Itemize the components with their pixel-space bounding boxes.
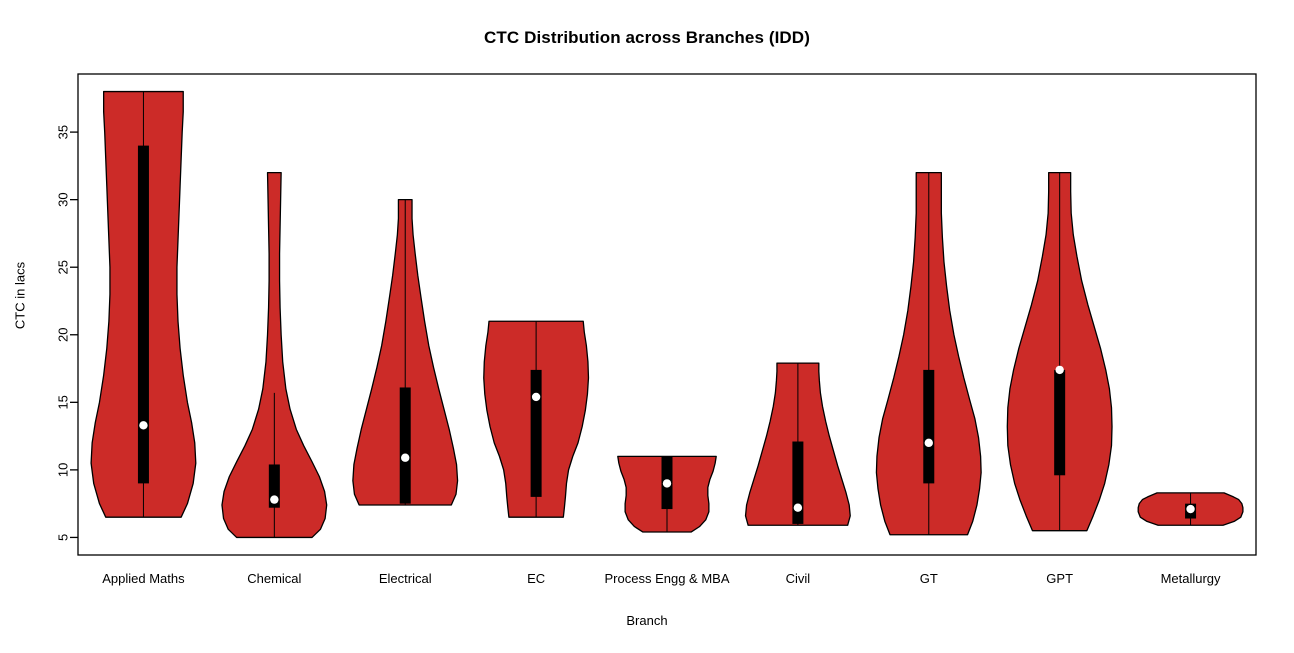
y-tick-label: 5 xyxy=(56,534,71,541)
y-tick-label: 10 xyxy=(56,463,71,477)
violin-applied-maths[interactable] xyxy=(91,92,196,518)
y-tick-label: 15 xyxy=(56,395,71,409)
x-tick-label: Chemical xyxy=(247,571,301,586)
violin-ec[interactable] xyxy=(484,321,589,517)
median-marker xyxy=(925,439,933,447)
y-tick-label: 35 xyxy=(56,125,71,139)
violin-gpt[interactable] xyxy=(1007,173,1112,531)
violins-group xyxy=(91,92,1243,538)
x-tick-label: Process Engg & MBA xyxy=(605,571,730,586)
plot-area: 5101520253035Applied MathsChemicalElectr… xyxy=(0,0,1294,653)
violin-process-engg-mba[interactable] xyxy=(618,456,716,532)
x-tick-label: GPT xyxy=(1046,571,1073,586)
y-tick-label: 20 xyxy=(56,328,71,342)
median-marker xyxy=(270,495,278,503)
median-marker xyxy=(139,421,147,429)
violin-civil[interactable] xyxy=(746,363,851,525)
iqr-box xyxy=(531,370,542,497)
iqr-box xyxy=(1054,370,1065,475)
x-tick-label: EC xyxy=(527,571,545,586)
violin-metallurgy[interactable] xyxy=(1138,493,1243,525)
x-tick-label: Metallurgy xyxy=(1161,571,1221,586)
median-marker xyxy=(401,454,409,462)
median-marker xyxy=(663,479,671,487)
violin-gt[interactable] xyxy=(876,173,981,535)
iqr-box xyxy=(400,387,411,503)
median-marker xyxy=(794,504,802,512)
violin-electrical[interactable] xyxy=(353,200,458,505)
iqr-box xyxy=(923,370,934,483)
x-tick-label: Applied Maths xyxy=(102,571,185,586)
median-marker xyxy=(1055,366,1063,374)
median-marker xyxy=(1186,505,1194,513)
y-tick-label: 30 xyxy=(56,192,71,206)
y-tick-label: 25 xyxy=(56,260,71,274)
violin-chemical[interactable] xyxy=(222,173,327,538)
x-tick-label: Civil xyxy=(786,571,811,586)
violin-plot-figure: CTC Distribution across Branches (IDD) C… xyxy=(0,0,1294,653)
median-marker xyxy=(532,393,540,401)
x-tick-label: GT xyxy=(920,571,938,586)
iqr-box xyxy=(138,146,149,484)
x-tick-label: Electrical xyxy=(379,571,432,586)
